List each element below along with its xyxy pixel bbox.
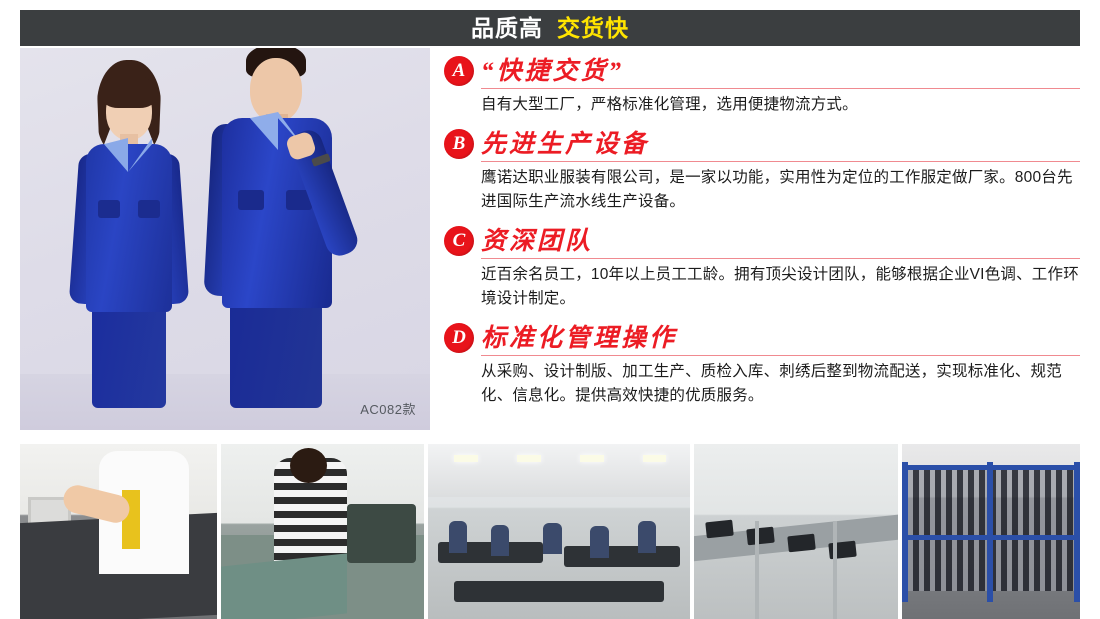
production-ceiling <box>428 444 690 497</box>
sewing-machine <box>347 504 416 564</box>
feature-list: A “快捷交货” 自有大型工厂，严格标准化管理，选用便捷物流方式。 B 先进生产… <box>444 56 1080 430</box>
feature-d-divider <box>481 355 1080 356</box>
male-pocket-left <box>238 190 264 210</box>
feature-d-title: 标准化管理操作 <box>481 325 677 353</box>
line-worker <box>638 521 656 553</box>
feature-a-header: A “快捷交货” <box>444 56 1080 86</box>
female-jacket <box>86 144 172 312</box>
gallery-thumb-conveyor <box>694 444 898 619</box>
rack-upright <box>987 462 993 602</box>
banner-title-primary: 品质高 <box>471 17 543 40</box>
workbench-row <box>454 581 664 602</box>
warehouse-scene <box>902 444 1080 619</box>
feature-item-c: C 资深团队 近百余名员工，10年以上员工工龄。拥有顶尖设计团队，能够根据企业V… <box>444 226 1080 311</box>
feature-a-divider <box>481 88 1080 89</box>
line-worker <box>449 521 467 553</box>
feature-c-header: C 资深团队 <box>444 226 1080 256</box>
feature-d-body: 从采购、设计制版、加工生产、质检入库、刺绣后整到物流配送，实现标准化、规范化、信… <box>481 360 1080 408</box>
feature-item-a: A “快捷交货” 自有大型工厂，严格标准化管理，选用便捷物流方式。 <box>444 56 1080 117</box>
gallery-thumb-production-line <box>428 444 690 619</box>
ceiling-lamp <box>517 455 541 462</box>
feature-b-title: 先进生产设备 <box>481 131 649 159</box>
female-hair-top <box>102 74 156 108</box>
sewing-room-scene <box>221 444 424 619</box>
feature-a-badge: A <box>444 56 474 86</box>
production-line-scene <box>428 444 690 619</box>
feature-d-badge: D <box>444 323 474 353</box>
feature-item-b: B 先进生产设备 鹰诺达职业服装有限公司，是一家以功能，实用性为定位的工作服定做… <box>444 129 1080 214</box>
feature-a-title: “快捷交货” <box>481 58 624 86</box>
feature-d-header: D 标准化管理操作 <box>444 323 1080 353</box>
conveyor-garment <box>787 534 815 552</box>
hero-product-photo: AC082款 <box>20 48 430 430</box>
feature-b-header: B 先进生产设备 <box>444 129 1080 159</box>
feature-c-badge: C <box>444 226 474 256</box>
gallery-thumb-sewing <box>221 444 424 619</box>
conveyor-garment <box>746 527 774 545</box>
feature-item-d: D 标准化管理操作 从采购、设计制版、加工生产、质检入库、刺绣后整到物流配送，实… <box>444 323 1080 408</box>
support-pole <box>755 521 759 619</box>
promo-page: 品质高 交货快 <box>0 0 1100 619</box>
female-pocket-left <box>98 200 120 218</box>
conveyor-garment <box>705 520 733 538</box>
ceiling-lamp <box>580 455 604 462</box>
feature-c-divider <box>481 258 1080 259</box>
workbench-row <box>564 546 679 567</box>
header-banner: 品质高 交货快 <box>20 10 1080 46</box>
conveyor-scene <box>694 444 898 619</box>
feature-c-body: 近百余名员工，10年以上员工工龄。拥有顶尖设计团队，能够根据企业VI色调、工作环… <box>481 263 1080 311</box>
feature-c-title: 资深团队 <box>481 228 593 256</box>
ceiling-lamp <box>454 455 478 462</box>
female-trousers <box>92 304 166 408</box>
support-pole <box>833 521 837 619</box>
female-pocket-right <box>138 200 160 218</box>
factory-gallery-strip <box>20 444 1080 619</box>
rack-upright <box>1074 462 1080 602</box>
banner-title-accent: 交货快 <box>557 17 629 40</box>
feature-b-body: 鹰诺达职业服装有限公司，是一家以功能，实用性为定位的工作服定做厂家。800台先进… <box>481 166 1080 214</box>
feature-a-body: 自有大型工厂，严格标准化管理，选用便捷物流方式。 <box>481 93 1080 117</box>
line-worker <box>590 526 608 558</box>
sewing-worker-head <box>290 448 327 483</box>
gallery-thumb-warehouse <box>902 444 1080 619</box>
male-head <box>250 58 302 122</box>
cutting-room-scene <box>20 444 217 619</box>
male-trousers <box>230 300 322 408</box>
product-code-label: AC082款 <box>360 399 416 418</box>
line-worker <box>543 523 561 555</box>
line-worker <box>491 525 509 557</box>
rack-upright <box>902 462 908 602</box>
ceiling-lamp <box>643 455 667 462</box>
feature-b-divider <box>481 161 1080 162</box>
gallery-thumb-cutting <box>20 444 217 619</box>
feature-b-badge: B <box>444 129 474 159</box>
